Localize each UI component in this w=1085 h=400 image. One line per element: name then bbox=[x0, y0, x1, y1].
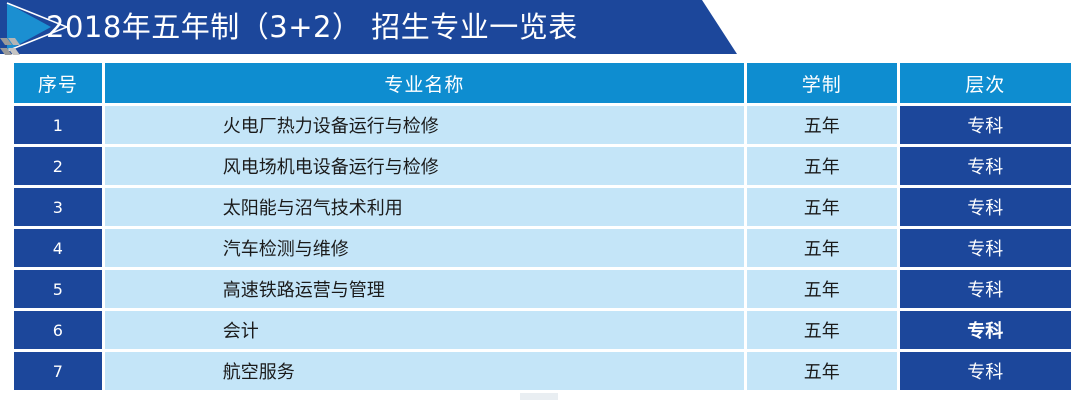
row-level: 专科 bbox=[900, 229, 1071, 267]
title-banner: 2018年五年制（3+2） 招生专业一览表 bbox=[0, 0, 740, 54]
row-major: 风电场机电设备运行与检修 bbox=[105, 147, 744, 185]
row-level: 专科 bbox=[900, 270, 1071, 308]
row-length: 五年 bbox=[747, 147, 897, 185]
page-title: 2018年五年制（3+2） 招生专业一览表 bbox=[46, 0, 578, 54]
row-major: 会计 bbox=[105, 311, 744, 349]
table-header-row: 序号 专业名称 学制 层次 bbox=[14, 63, 1071, 103]
row-index: 7 bbox=[14, 352, 102, 390]
table-row: 6 会计 五年 专科 bbox=[14, 311, 1071, 349]
row-index: 6 bbox=[14, 311, 102, 349]
row-major: 高速铁路运营与管理 bbox=[105, 270, 744, 308]
row-index: 3 bbox=[14, 188, 102, 226]
column-header-level: 层次 bbox=[900, 63, 1072, 103]
row-major: 太阳能与沼气技术利用 bbox=[105, 188, 744, 226]
row-index: 5 bbox=[14, 270, 102, 308]
row-length: 五年 bbox=[747, 311, 897, 349]
column-header-length: 学制 bbox=[747, 63, 897, 103]
table-row: 7 航空服务 五年 专科 bbox=[14, 352, 1071, 390]
row-major: 火电厂热力设备运行与检修 bbox=[105, 106, 744, 144]
row-level: 专科 bbox=[900, 311, 1071, 349]
row-index: 4 bbox=[14, 229, 102, 267]
row-length: 五年 bbox=[747, 270, 897, 308]
page-root: 2018年五年制（3+2） 招生专业一览表 序号 专业名称 学制 层次 1 火电… bbox=[0, 0, 1085, 400]
row-level: 专科 bbox=[900, 352, 1071, 390]
row-length: 五年 bbox=[747, 229, 897, 267]
column-header-name: 专业名称 bbox=[105, 63, 744, 103]
row-index: 2 bbox=[14, 147, 102, 185]
table-row: 5 高速铁路运营与管理 五年 专科 bbox=[14, 270, 1071, 308]
chevron-decoration-icon bbox=[0, 36, 26, 58]
table-row: 2 风电场机电设备运行与检修 五年 专科 bbox=[14, 147, 1071, 185]
row-length: 五年 bbox=[747, 188, 897, 226]
table-row: 3 太阳能与沼气技术利用 五年 专科 bbox=[14, 188, 1071, 226]
row-length: 五年 bbox=[747, 106, 897, 144]
row-index: 1 bbox=[14, 106, 102, 144]
page-edge-artifact bbox=[520, 393, 558, 400]
row-major: 航空服务 bbox=[105, 352, 744, 390]
table-row: 1 火电厂热力设备运行与检修 五年 专科 bbox=[14, 106, 1071, 144]
table-row: 4 汽车检测与维修 五年 专科 bbox=[14, 229, 1071, 267]
row-level: 专科 bbox=[900, 147, 1071, 185]
row-length: 五年 bbox=[747, 352, 897, 390]
row-level: 专科 bbox=[900, 188, 1071, 226]
majors-table: 序号 专业名称 学制 层次 1 火电厂热力设备运行与检修 五年 专科 2 风电场… bbox=[14, 63, 1071, 393]
row-major: 汽车检测与维修 bbox=[105, 229, 744, 267]
row-level: 专科 bbox=[900, 106, 1071, 144]
column-header-no: 序号 bbox=[14, 63, 102, 103]
